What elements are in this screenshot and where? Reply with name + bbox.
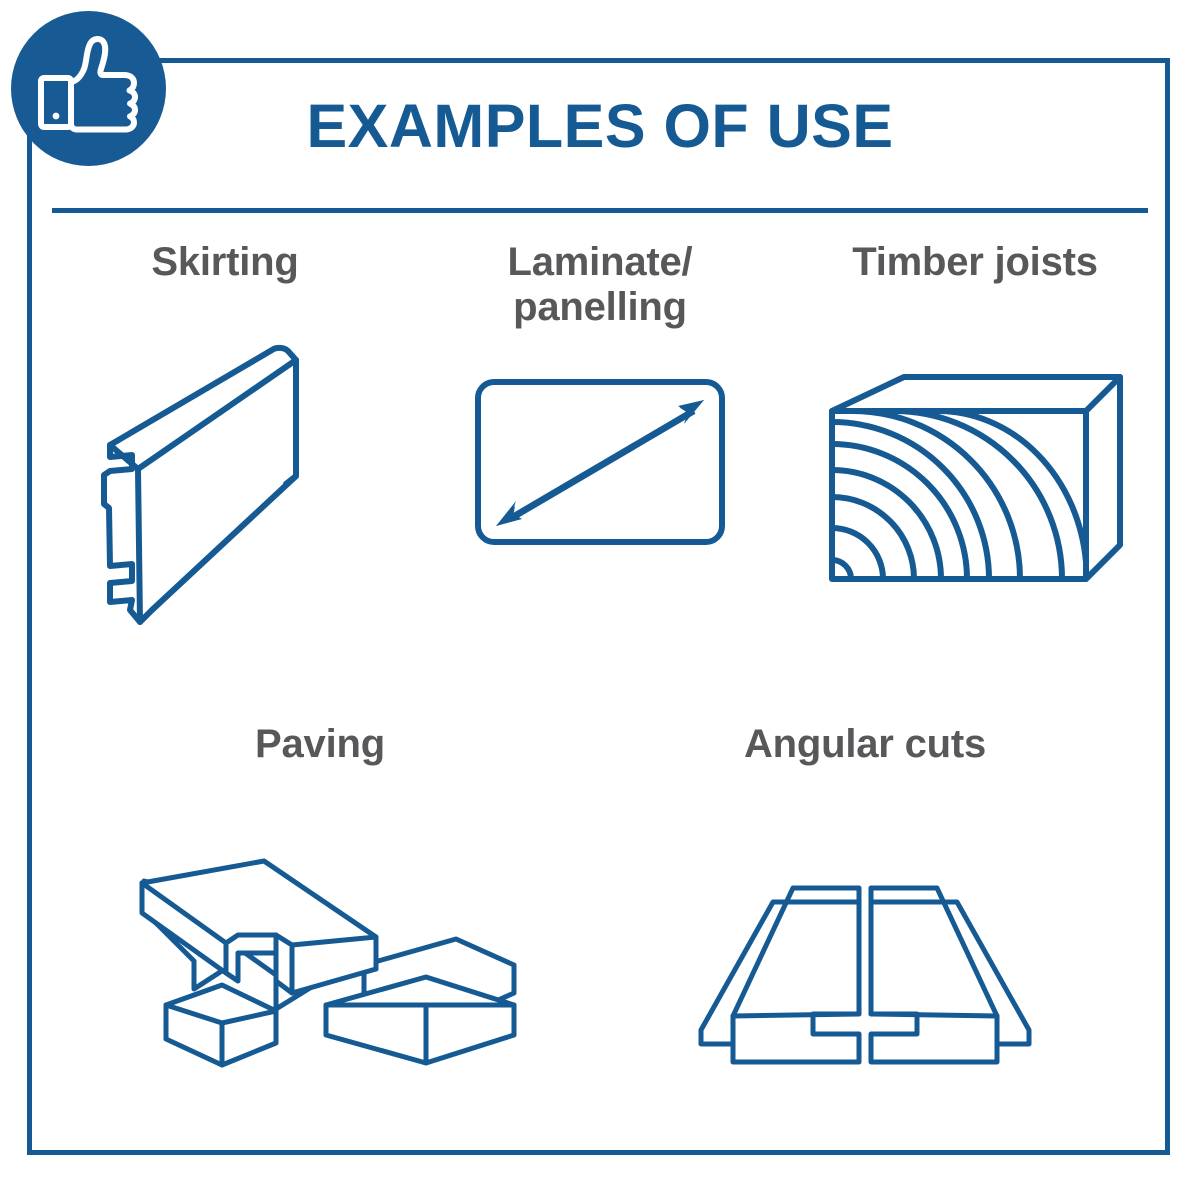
example-label-laminate-line1: Laminate/	[405, 240, 795, 285]
example-label-timber: Timber joists	[780, 240, 1170, 285]
skirting-board-profile-illustration	[30, 333, 420, 633]
example-label-skirting: Skirting	[30, 240, 420, 285]
page-title: EXAMPLES OF USE	[0, 96, 1200, 157]
example-label-laminate-line2: panelling	[405, 285, 795, 330]
example-laminate: Laminate/ panelling	[405, 240, 795, 582]
example-skirting: Skirting	[30, 240, 420, 633]
title-divider	[52, 208, 1148, 213]
example-paving: Paving	[60, 722, 580, 1099]
thumbs-up-icon	[11, 11, 166, 166]
example-label-laminate: Laminate/ panelling	[405, 240, 795, 330]
example-angular: Angular cuts	[600, 722, 1130, 1099]
timber-block-grain-illustration	[780, 333, 1170, 633]
example-label-paving: Paving	[60, 722, 580, 767]
panel-diagonal-arrow-illustration	[405, 342, 795, 582]
examples-of-use-panel: EXAMPLES OF USE Skirting Laminate/ panel…	[0, 0, 1200, 1200]
example-timber: Timber joists	[780, 240, 1170, 633]
example-label-angular: Angular cuts	[600, 722, 1130, 767]
interlocking-paving-slabs-illustration	[60, 839, 580, 1099]
mitred-boards-illustration	[600, 839, 1130, 1099]
